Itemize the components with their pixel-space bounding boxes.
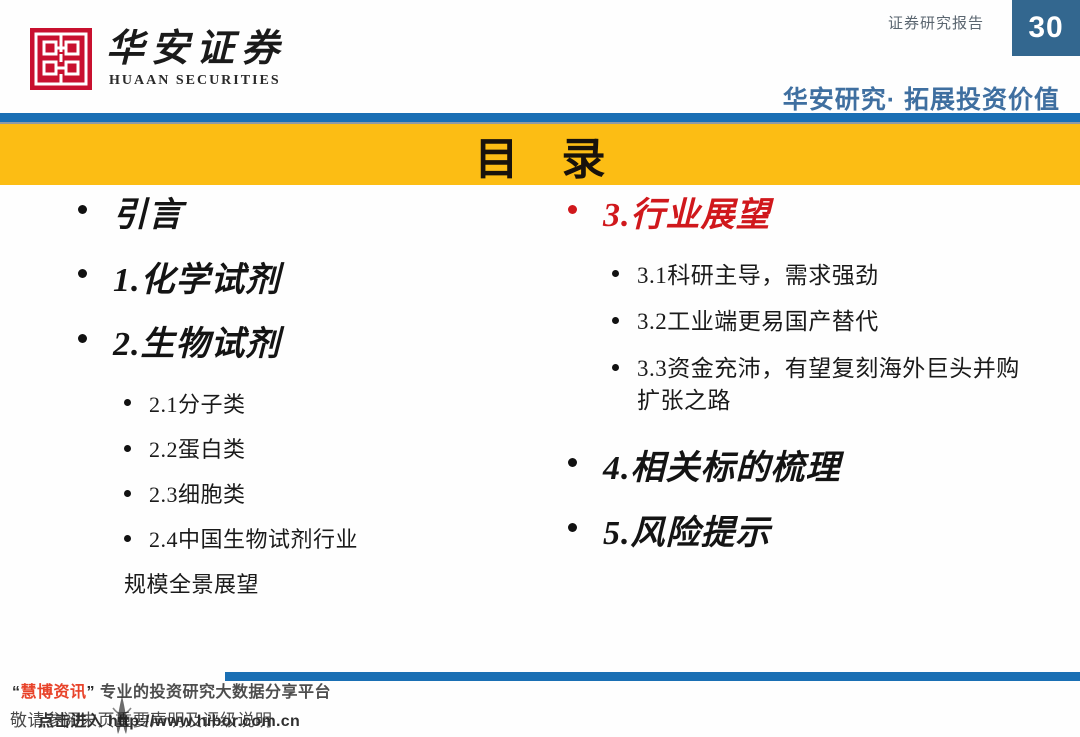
toc-item-intro[interactable]: 引言: [78, 195, 520, 238]
toc-item-3-3[interactable]: 3.3资金充沛，有望复刻海外巨头并购扩张之路: [612, 353, 1040, 418]
logo-english-name: HUAAN SECURITIES: [109, 73, 286, 89]
table-of-contents: 引言 1.化学试剂 2.生物试剂 2.1分子类 2.2蛋白类 2.3细胞类: [0, 195, 1080, 655]
toc-item-2-3[interactable]: 2.3细胞类: [124, 479, 520, 510]
toc-item-label: 2.生物试剂: [113, 324, 281, 367]
toc-item-2-2[interactable]: 2.2蛋白类: [124, 434, 520, 465]
toc-item-3-1[interactable]: 3.1科研主导，需求强劲: [612, 260, 1040, 293]
toc-item-label: 2.1分子类: [149, 389, 246, 420]
toc-item-2-1[interactable]: 2.1分子类: [124, 389, 520, 420]
toc-item-label: 引言: [113, 195, 183, 238]
bullet-icon: [78, 205, 87, 214]
toc-item-bio-reagents[interactable]: 2.生物试剂: [78, 324, 520, 367]
toc-item-2-4[interactable]: 2.4中国生物试剂行业: [124, 524, 520, 555]
toc-item-label: 5.风险提示: [603, 513, 771, 556]
toc-item-risk-warning[interactable]: 5.风险提示: [568, 513, 1040, 556]
toc-item-label: 3.行业展望: [603, 195, 771, 238]
toc-item-label: 3.1科研主导，需求强劲: [637, 260, 879, 293]
toc-item-label: 2.2蛋白类: [149, 434, 246, 465]
toc-item-related-targets[interactable]: 4.相关标的梳理: [568, 448, 1040, 491]
column-spacer: [568, 432, 1040, 448]
watermark-quote-open: “: [12, 684, 21, 701]
page-number-badge: 30: [1012, 0, 1080, 56]
bullet-icon: [568, 523, 577, 532]
bullet-icon: [568, 205, 577, 214]
bullet-icon: [78, 334, 87, 343]
toc-left-column: 引言 1.化学试剂 2.生物试剂 2.1分子类 2.2蛋白类 2.3细胞类: [0, 195, 520, 655]
company-logo: 华安证券 HUAAN SECURITIES: [30, 28, 286, 90]
huaan-seal-logo-icon: [30, 28, 92, 90]
logo-text-block: 华安证券 HUAAN SECURITIES: [106, 30, 286, 89]
bullet-icon: [124, 399, 131, 406]
watermark-link[interactable]: 点击进入 http://www.hibor.com.cn: [38, 707, 300, 731]
toc-item-label: 4.相关标的梳理: [603, 448, 841, 491]
bullet-icon: [78, 269, 87, 278]
watermark-brand: 慧博资讯: [21, 684, 87, 701]
bullet-icon: [124, 490, 131, 497]
page-title: 目 录: [0, 124, 1080, 185]
title-band-blue-rule: [0, 113, 1080, 122]
watermark-quote-close: ”: [87, 684, 96, 701]
bullet-icon: [612, 364, 619, 371]
toc-item-label: 3.3资金充沛，有望复刻海外巨头并购扩张之路: [637, 353, 1040, 418]
toc-item-2-4-continuation: 规模全景展望: [124, 569, 520, 600]
bullet-icon: [612, 317, 619, 324]
report-type-label: 证券研究报告: [888, 12, 984, 33]
header-slogan: 华安研究· 拓展投资价值: [783, 80, 1060, 116]
bullet-icon: [124, 445, 131, 452]
watermark-tagline: 专业的投资研究大数据分享平台: [100, 684, 331, 701]
bullet-icon: [124, 535, 131, 542]
toc-item-label: 2.3细胞类: [149, 479, 246, 510]
watermark-tagline-line: “慧博资讯” 专业的投资研究大数据分享平台: [12, 678, 331, 702]
toc-item-label: 规模全景展望: [124, 572, 259, 597]
bullet-icon: [612, 270, 619, 277]
footer-blue-rule: [225, 672, 1080, 681]
bullet-icon: [568, 458, 577, 467]
toc-right-column: 3.行业展望 3.1科研主导，需求强劲 3.2工业端更易国产替代 3.3资金充沛…: [520, 195, 1040, 655]
toc-item-label: 3.2工业端更易国产替代: [637, 306, 879, 339]
toc-item-3-2[interactable]: 3.2工业端更易国产替代: [612, 306, 1040, 339]
toc-item-industry-outlook[interactable]: 3.行业展望: [568, 195, 1040, 238]
toc-item-label: 2.4中国生物试剂行业: [149, 524, 358, 555]
toc-item-chemical-reagents[interactable]: 1.化学试剂: [78, 260, 520, 303]
slide-root: 证券研究报告 30 华安证券 HU: [0, 0, 1080, 737]
toc-item-label: 1.化学试剂: [113, 260, 281, 303]
logo-chinese-name: 华安证券: [106, 30, 286, 70]
